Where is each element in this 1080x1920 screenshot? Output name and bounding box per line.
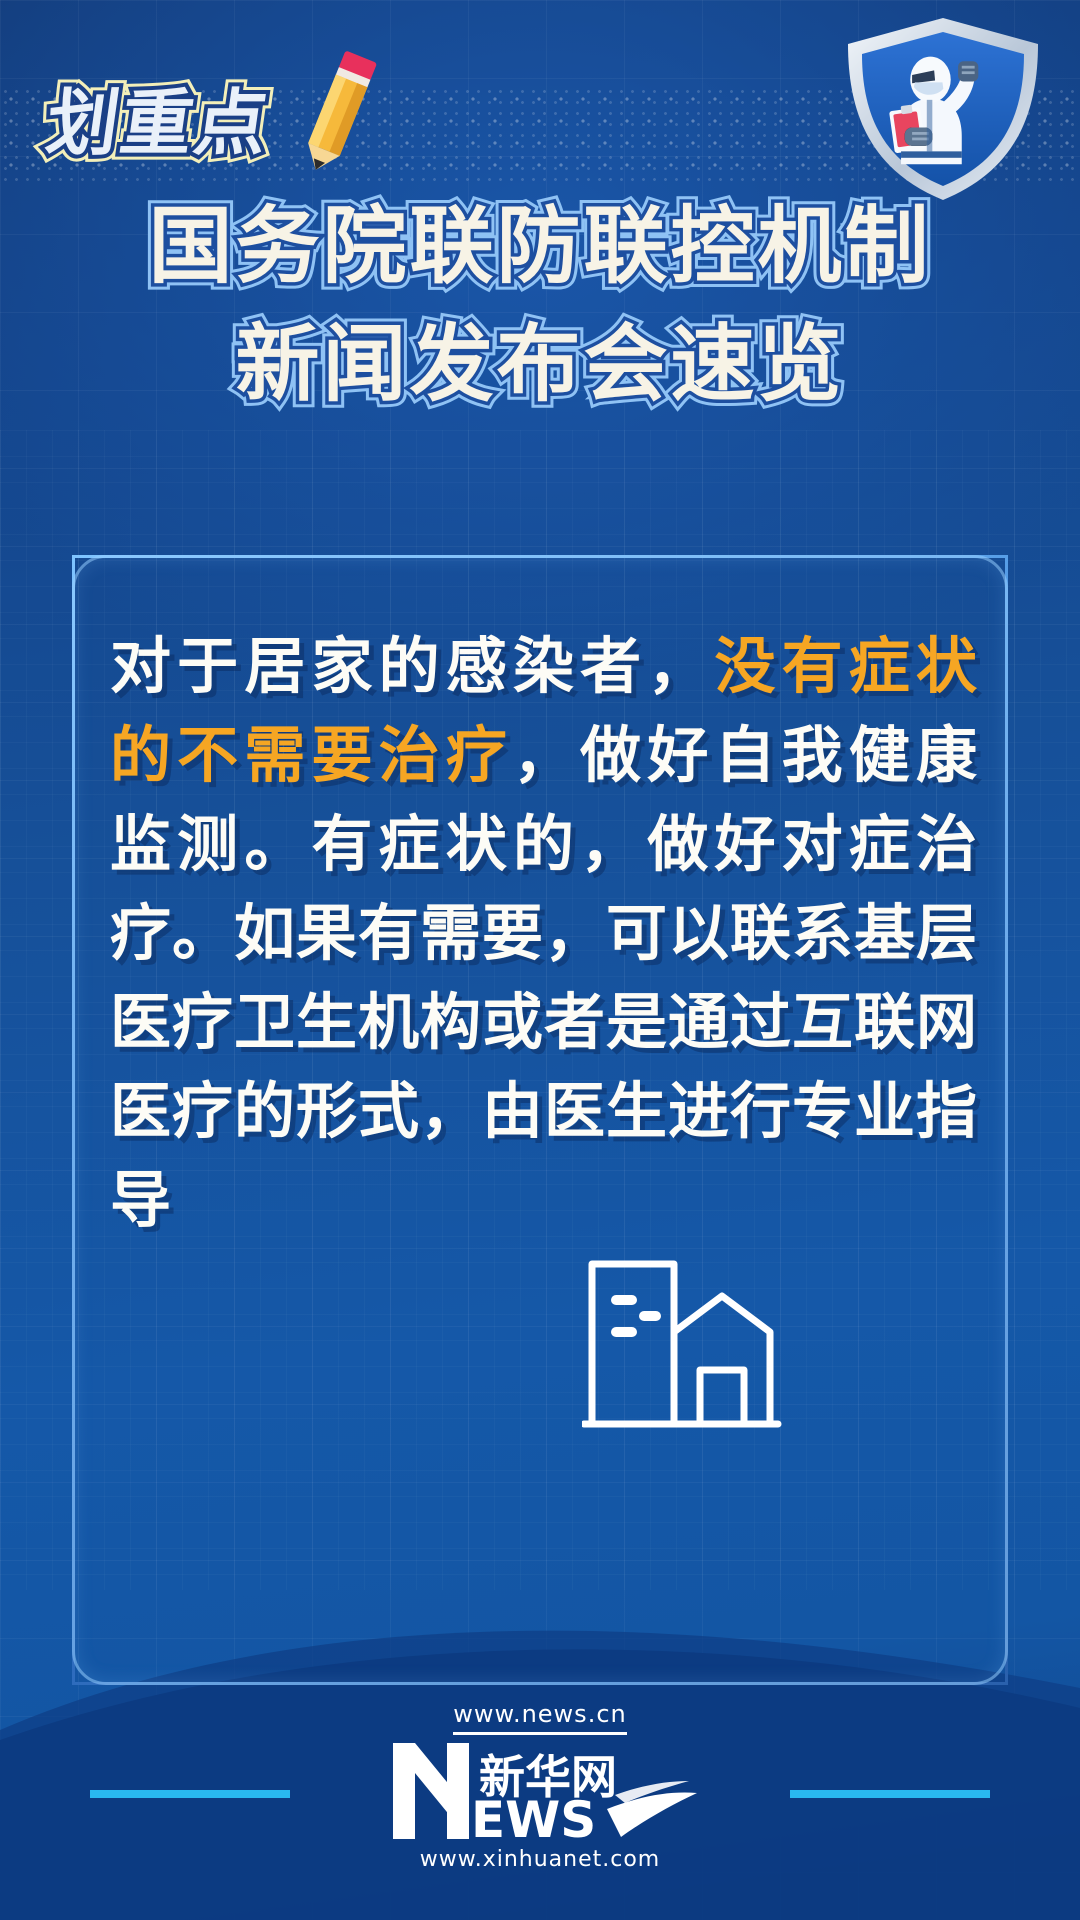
logo-mark: 新华网 EWS [375, 1737, 705, 1845]
title-line-2-text: 新闻发布会速览 [0, 316, 1080, 412]
content-paragraph: 对于居家的感染者，没有症状的不需要治疗，做好自我健康监测。有症状的，做好对症治疗… [110, 622, 978, 1245]
poster-canvas: 划重点 划重点 划重点 [0, 0, 1080, 1920]
xinhua-logo: www.news.cn 新华网 EWS [0, 1700, 1080, 1872]
page-title: 国务院联防联控机制 国务院联防联控机制 国务院联防联控机制 新闻发布会速览 新闻… [0, 198, 1080, 412]
logo-brand-en-text: EWS [471, 1791, 596, 1845]
badge-label: 划重点 [41, 64, 278, 169]
logo-url-top: www.news.cn [453, 1700, 626, 1735]
paragraph-segment-1: 对于居家的感染者， [110, 631, 714, 702]
title-line-2: 新闻发布会速览 新闻发布会速览 新闻发布会速览 [0, 316, 1080, 412]
pencil-icon [278, 42, 398, 182]
title-line-1-text: 国务院联防联控机制 [0, 198, 1080, 294]
logo-dash-left [90, 1790, 290, 1798]
logo-dash-right [790, 1790, 990, 1798]
hospital-building-icon [582, 1248, 782, 1430]
shield-medical-worker-icon [838, 14, 1048, 204]
paragraph-segment-2: ，做好自我健康监测。有症状的，做好对症治疗。如果有需要，可以联系基层医疗卫生机构… [110, 720, 978, 1236]
title-line-1: 国务院联防联控机制 国务院联防联控机制 国务院联防联控机制 [0, 198, 1080, 294]
logo-mark-svg: 新华网 EWS [375, 1737, 705, 1845]
logo-url-bottom: www.xinhuanet.com [375, 1847, 705, 1872]
